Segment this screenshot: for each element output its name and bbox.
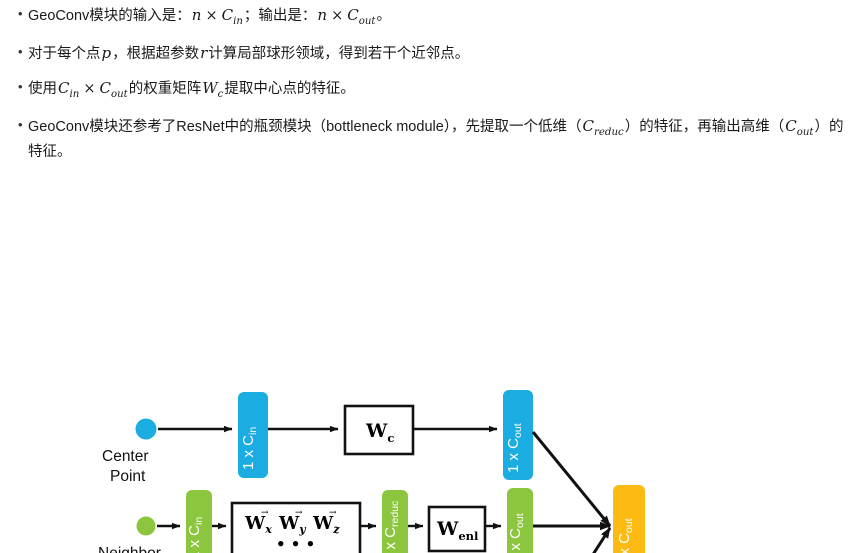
neighbor-1-label-line1: Neighbor xyxy=(98,545,161,553)
bullet-text-center-weight: 使用Cin×Cout的权重矩阵Wc提取中心点的特征。 xyxy=(28,77,854,103)
arrow-nq-to-output xyxy=(533,528,610,553)
svg-text:→: → xyxy=(329,508,337,518)
svg-text:→: → xyxy=(261,508,269,518)
bullet-text-bottleneck: GeoConv模块还参考了ResNet中的瓶颈模块（bottleneck mod… xyxy=(28,115,854,163)
list-item: • GeoConv模块还参考了ResNet中的瓶颈模块（bottleneck m… xyxy=(0,115,854,163)
list-item: • GeoConv模块的输入是：n×Cin；输出是：n×Cout。 xyxy=(0,4,854,30)
block-n1-wmat-label: Wx → Wy → Wz → xyxy=(244,508,340,536)
bullet-list: • GeoConv模块的输入是：n×Cin；输出是：n×Cout。 • 对于每个… xyxy=(0,0,854,175)
bullet-text-io: GeoConv模块的输入是：n×Cin；输出是：n×Cout。 xyxy=(28,4,854,30)
bullet-marker: • xyxy=(18,115,28,135)
bullet-marker: • xyxy=(18,42,28,62)
svg-text:→: → xyxy=(295,508,303,518)
list-item: • 使用Cin×Cout的权重矩阵Wc提取中心点的特征。 xyxy=(0,77,854,103)
center-point-label-line2: Point xyxy=(110,468,146,485)
n1-wmat-ellipsis: • • • xyxy=(276,535,315,553)
bullet-text-neighborhood: 对于每个点p，根据超参数r计算局部球形领域，得到若干个近邻点。 xyxy=(28,42,854,65)
bullet-marker: • xyxy=(18,4,28,24)
bullet-marker: • xyxy=(18,77,28,97)
list-item: • 对于每个点p，根据超参数r计算局部球形领域，得到若干个近邻点。 xyxy=(0,42,854,65)
center-point-label-line1: Center xyxy=(102,448,149,465)
arrow-center-to-output xyxy=(533,432,610,526)
neighbor-1-dot xyxy=(137,517,156,536)
center-point-dot xyxy=(136,419,157,440)
geoconv-diagram: Center Point 1 x Cin Wc 1 x Cout Neighbo… xyxy=(0,170,854,553)
